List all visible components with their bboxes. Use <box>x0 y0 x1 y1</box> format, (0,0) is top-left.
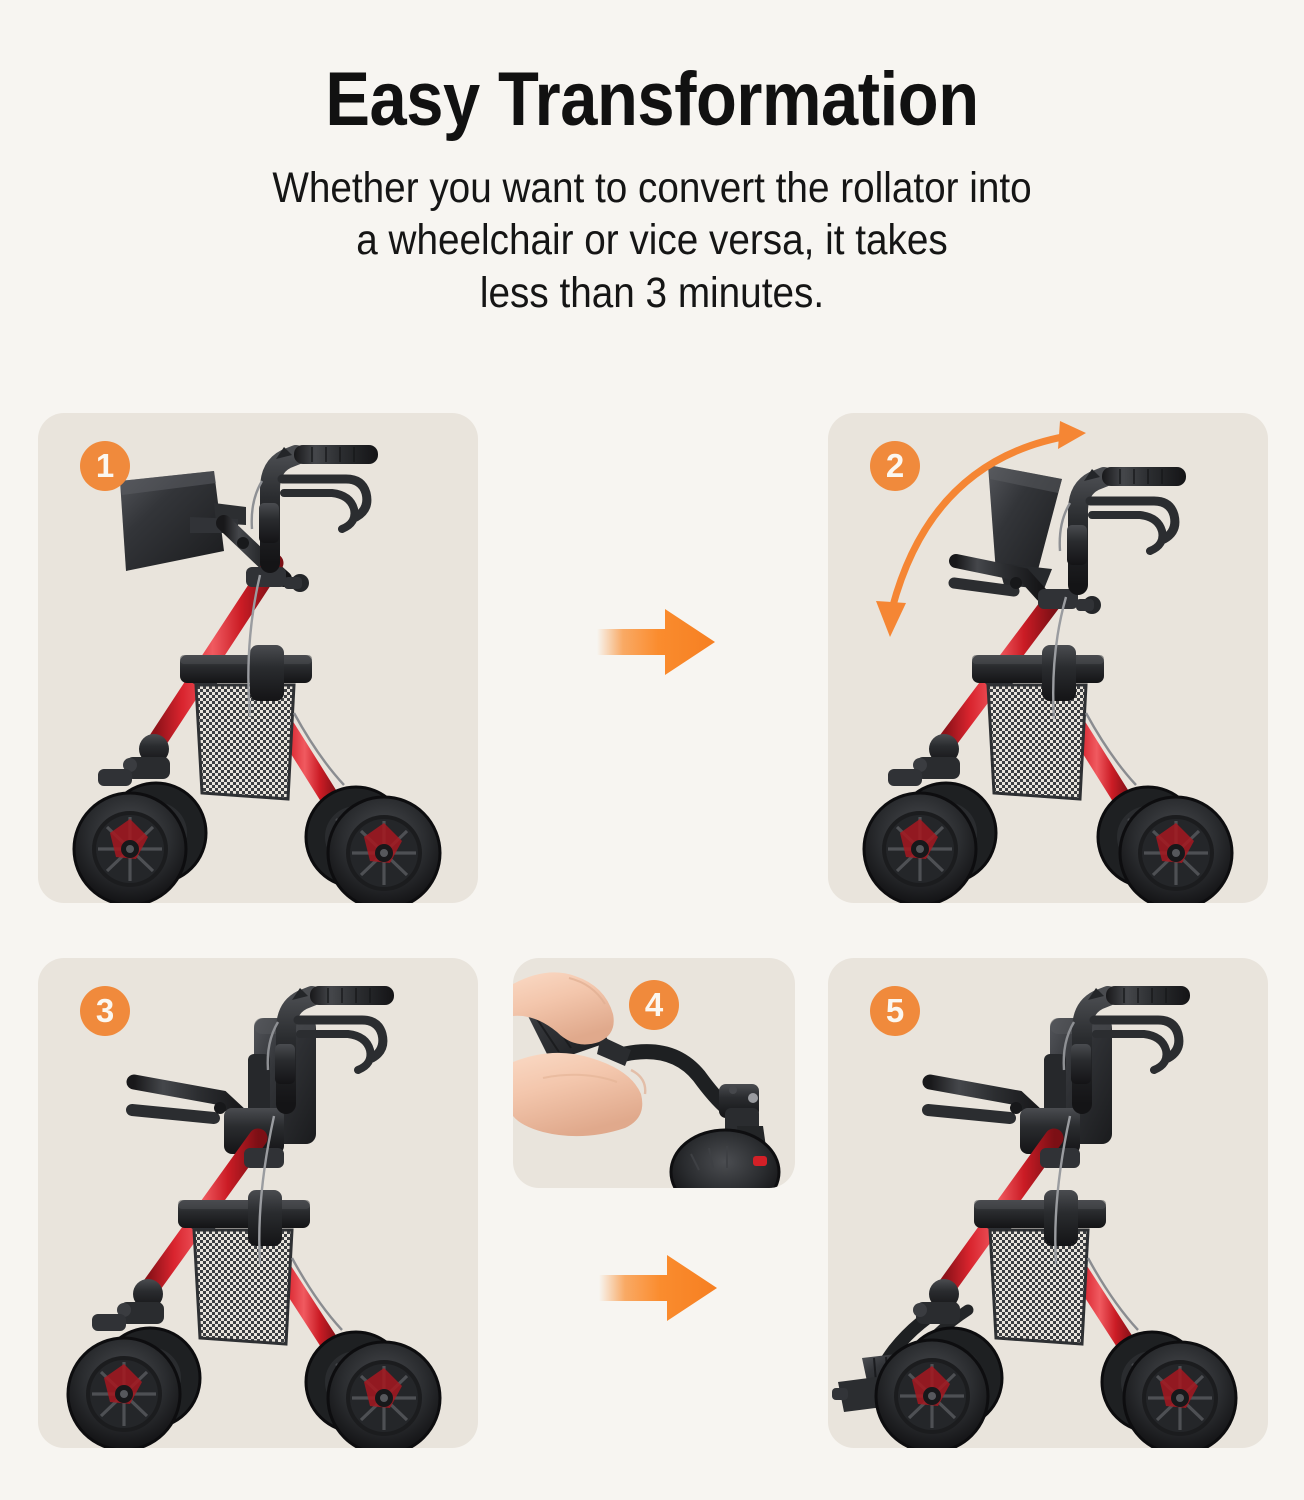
rotate-arrow-head-top <box>1058 421 1086 449</box>
footrest-hook <box>597 1036 631 1066</box>
seat-bar <box>974 1200 1106 1228</box>
wheel-rear-near <box>68 1338 180 1448</box>
step-badge-4: 4 <box>629 980 679 1030</box>
page-title: Easy Transformation <box>78 62 1226 138</box>
handle-assembly <box>268 986 394 1104</box>
flow-arrow-bottom <box>597 1249 719 1327</box>
step-badge-2: 2 <box>870 441 920 491</box>
storage-basket <box>990 1230 1088 1344</box>
seat-bar <box>178 1200 310 1228</box>
caster-joint-rear <box>98 734 170 786</box>
handle-assembly <box>252 445 378 563</box>
storage-basket <box>988 685 1086 799</box>
caster-joint-rear <box>92 1279 164 1331</box>
wheel-front-near <box>328 1342 440 1448</box>
wheel-front-near <box>328 797 440 903</box>
step-badge-1: 1 <box>80 441 130 491</box>
flow-arrow-top <box>595 603 717 681</box>
storage-basket <box>194 1230 292 1344</box>
wheel-rear-near <box>876 1340 988 1448</box>
storage-basket <box>196 685 294 799</box>
wheel-front-near <box>1124 1342 1236 1448</box>
subtitle-line-1: Whether you want to convert the rollator… <box>65 162 1239 214</box>
hand-lower <box>513 1053 645 1136</box>
handle-assembly <box>1064 986 1190 1104</box>
step-panel-1: 1 <box>38 413 478 903</box>
caster-joint-rear <box>913 1279 960 1324</box>
subtitle-line-3: less than 3 minutes. <box>65 267 1239 319</box>
caster-joint-rear <box>888 734 960 786</box>
wheel-rear-near <box>74 793 186 903</box>
step-panel-4: 4 <box>513 958 795 1188</box>
frame-hub <box>244 1148 284 1246</box>
seat-bar <box>180 655 312 683</box>
red-accent <box>753 1156 767 1166</box>
wheel-front-near <box>1120 797 1232 903</box>
hand-upper <box>513 972 614 1044</box>
frame-hub <box>1040 1148 1080 1246</box>
step-panel-3: 3 <box>38 958 478 1448</box>
rotate-arrow-head-bottom <box>876 601 906 637</box>
step-badge-5: 5 <box>870 986 920 1036</box>
step-panel-5: 5 <box>828 958 1268 1448</box>
step-panel-2: 2 <box>828 413 1268 903</box>
subtitle-line-2: a wheelchair or vice versa, it takes <box>65 214 1239 266</box>
step-badge-3: 3 <box>80 986 130 1036</box>
header: Easy Transformation Whether you want to … <box>0 0 1304 319</box>
page-subtitle: Whether you want to convert the rollator… <box>65 162 1239 319</box>
wheel-rear-near <box>864 793 976 903</box>
